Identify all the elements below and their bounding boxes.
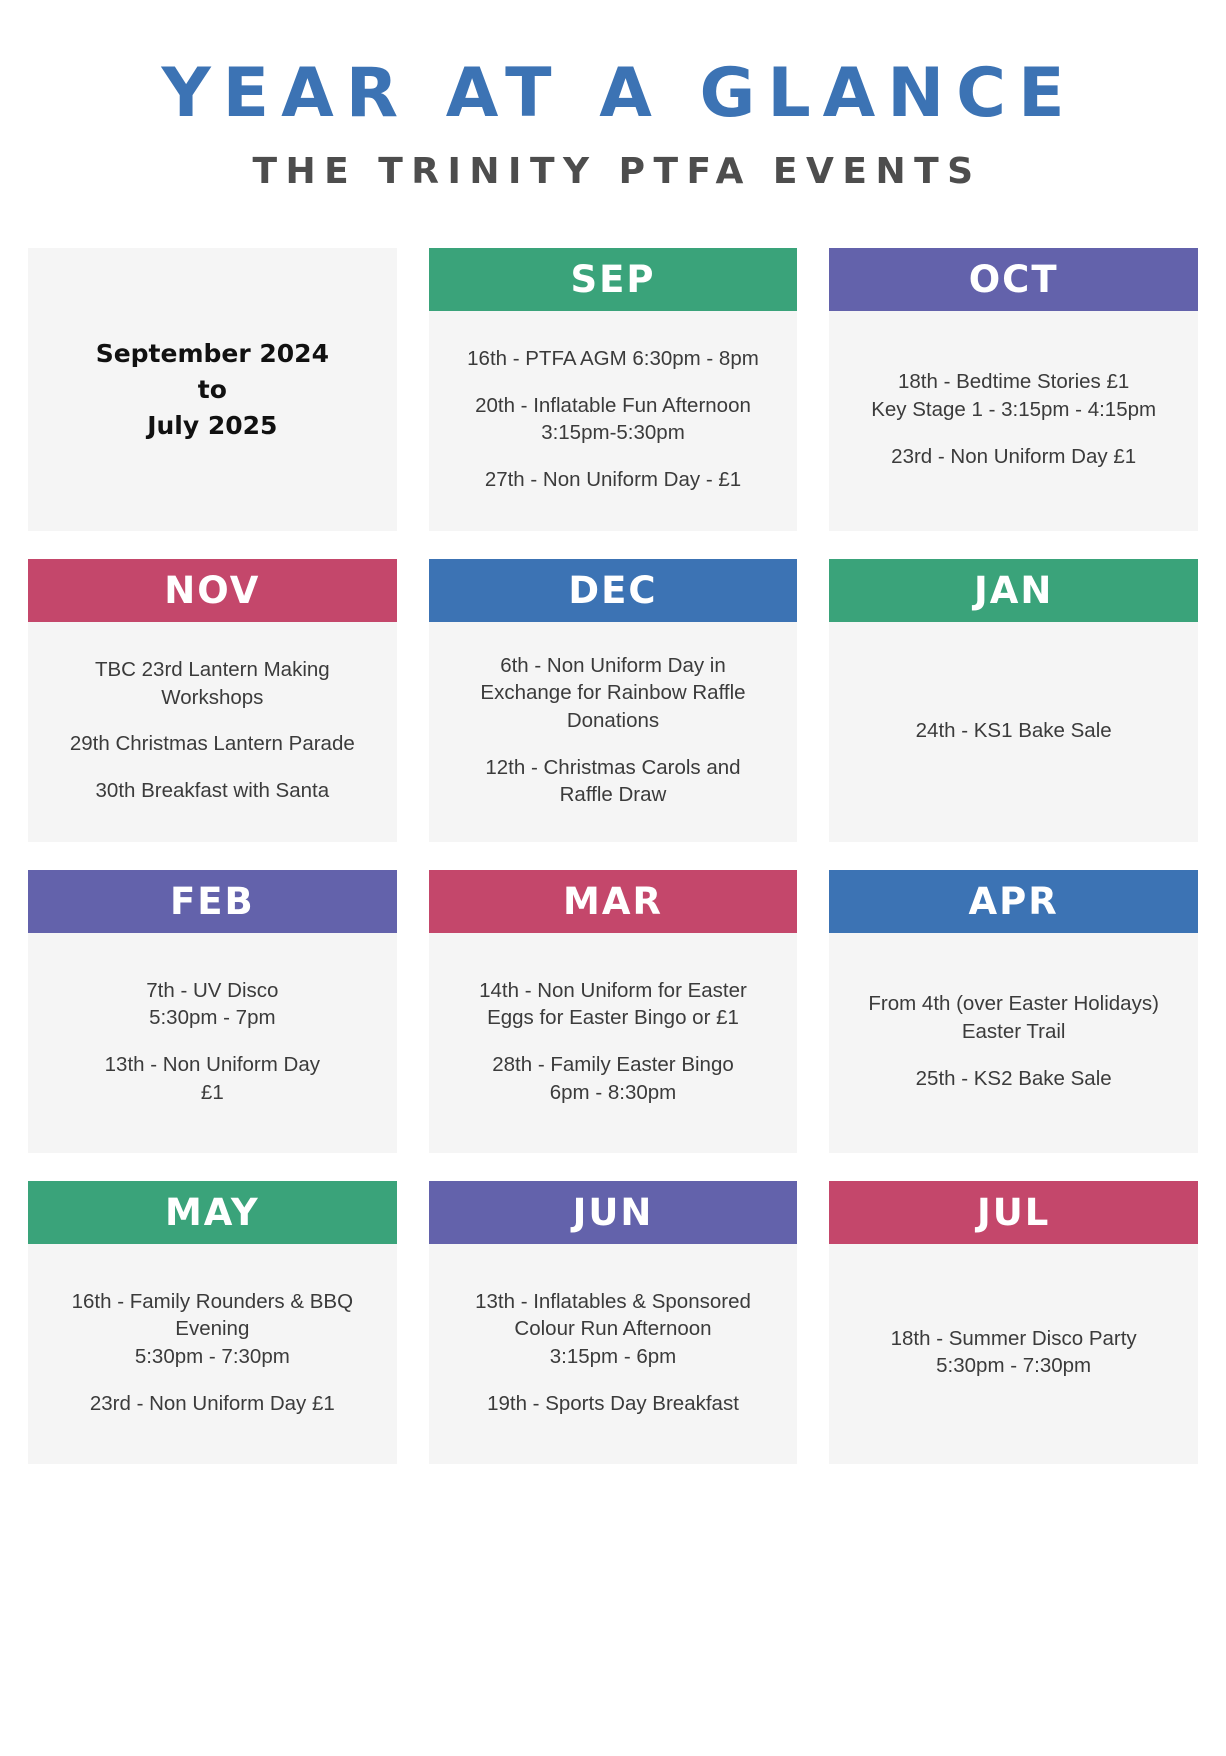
event-item: 24th - KS1 Bake Sale — [916, 717, 1112, 745]
month-card-dec[interactable]: DEC 6th - Non Uniform Day in Exchange fo… — [429, 559, 798, 842]
month-card-nov[interactable]: NOV TBC 23rd Lantern Making Workshops 29… — [28, 559, 397, 842]
event-item: 13th - Inflatables & Sponsored Colour Ru… — [475, 1288, 751, 1371]
intro-card: September 2024 to July 2025 — [28, 248, 397, 531]
month-events-mar: 14th - Non Uniform for Easter Eggs for E… — [429, 933, 798, 1153]
event-item: 16th - PTFA AGM 6:30pm - 8pm — [467, 345, 759, 373]
month-card-jun[interactable]: JUN 13th - Inflatables & Sponsored Colou… — [429, 1181, 798, 1464]
event-item: 30th Breakfast with Santa — [96, 777, 330, 805]
event-item: From 4th (over Easter Holidays) Easter T… — [868, 990, 1159, 1045]
event-item: TBC 23rd Lantern Making Workshops — [95, 656, 330, 711]
poster-header: YEAR AT A GLANCE THE TRINITY PTFA EVENTS — [28, 0, 1198, 192]
event-item: 25th - KS2 Bake Sale — [916, 1065, 1112, 1093]
month-events-oct: 18th - Bedtime Stories £1 Key Stage 1 - … — [829, 311, 1198, 531]
month-header-mar: MAR — [429, 870, 798, 933]
month-header-nov: NOV — [28, 559, 397, 622]
intro-date-range: September 2024 to July 2025 — [96, 336, 329, 445]
month-header-jun: JUN — [429, 1181, 798, 1244]
month-card-jul[interactable]: JUL 18th - Summer Disco Party 5:30pm - 7… — [829, 1181, 1198, 1464]
event-item: 23rd - Non Uniform Day £1 — [90, 1390, 335, 1418]
event-item: 27th - Non Uniform Day - £1 — [485, 466, 741, 494]
month-card-may[interactable]: MAY 16th - Family Rounders & BBQ Evening… — [28, 1181, 397, 1464]
month-grid: September 2024 to July 2025 SEP 16th - P… — [28, 248, 1198, 1464]
month-events-feb: 7th - UV Disco 5:30pm - 7pm 13th - Non U… — [28, 933, 397, 1153]
event-item: 7th - UV Disco 5:30pm - 7pm — [146, 977, 278, 1032]
event-item: 18th - Bedtime Stories £1 Key Stage 1 - … — [871, 368, 1156, 423]
month-events-jan: 24th - KS1 Bake Sale — [829, 622, 1198, 842]
event-item: 20th - Inflatable Fun Afternoon 3:15pm-5… — [475, 392, 751, 447]
month-header-dec: DEC — [429, 559, 798, 622]
month-header-sep: SEP — [429, 248, 798, 311]
month-events-apr: From 4th (over Easter Holidays) Easter T… — [829, 933, 1198, 1153]
event-item: 12th - Christmas Carols and Raffle Draw — [485, 754, 740, 809]
month-events-nov: TBC 23rd Lantern Making Workshops 29th C… — [28, 622, 397, 842]
event-item: 16th - Family Rounders & BBQ Evening 5:3… — [72, 1288, 353, 1371]
month-card-mar[interactable]: MAR 14th - Non Uniform for Easter Eggs f… — [429, 870, 798, 1153]
page-title: YEAR AT A GLANCE — [28, 58, 1198, 129]
month-events-sep: 16th - PTFA AGM 6:30pm - 8pm 20th - Infl… — [429, 311, 798, 531]
month-header-feb: FEB — [28, 870, 397, 933]
month-header-oct: OCT — [829, 248, 1198, 311]
event-item: 14th - Non Uniform for Easter Eggs for E… — [479, 977, 747, 1032]
month-header-may: MAY — [28, 1181, 397, 1244]
month-events-jun: 13th - Inflatables & Sponsored Colour Ru… — [429, 1244, 798, 1464]
event-item: 6th - Non Uniform Day in Exchange for Ra… — [480, 652, 745, 735]
event-item: 28th - Family Easter Bingo 6pm - 8:30pm — [492, 1051, 734, 1106]
event-item: 23rd - Non Uniform Day £1 — [891, 443, 1136, 471]
event-item: 29th Christmas Lantern Parade — [70, 730, 355, 758]
month-card-jan[interactable]: JAN 24th - KS1 Bake Sale — [829, 559, 1198, 842]
page-subtitle: THE TRINITY PTFA EVENTS — [28, 151, 1198, 192]
month-card-oct[interactable]: OCT 18th - Bedtime Stories £1 Key Stage … — [829, 248, 1198, 531]
month-header-apr: APR — [829, 870, 1198, 933]
month-events-may: 16th - Family Rounders & BBQ Evening 5:3… — [28, 1244, 397, 1464]
event-item: 19th - Sports Day Breakfast — [487, 1390, 739, 1418]
month-header-jul: JUL — [829, 1181, 1198, 1244]
month-events-dec: 6th - Non Uniform Day in Exchange for Ra… — [429, 622, 798, 842]
month-card-feb[interactable]: FEB 7th - UV Disco 5:30pm - 7pm 13th - N… — [28, 870, 397, 1153]
event-item: 18th - Summer Disco Party 5:30pm - 7:30p… — [891, 1325, 1137, 1380]
month-header-jan: JAN — [829, 559, 1198, 622]
poster-root: YEAR AT A GLANCE THE TRINITY PTFA EVENTS… — [0, 0, 1226, 1756]
event-item: 13th - Non Uniform Day £1 — [105, 1051, 320, 1106]
month-events-jul: 18th - Summer Disco Party 5:30pm - 7:30p… — [829, 1244, 1198, 1464]
month-card-apr[interactable]: APR From 4th (over Easter Holidays) East… — [829, 870, 1198, 1153]
month-card-sep[interactable]: SEP 16th - PTFA AGM 6:30pm - 8pm 20th - … — [429, 248, 798, 531]
